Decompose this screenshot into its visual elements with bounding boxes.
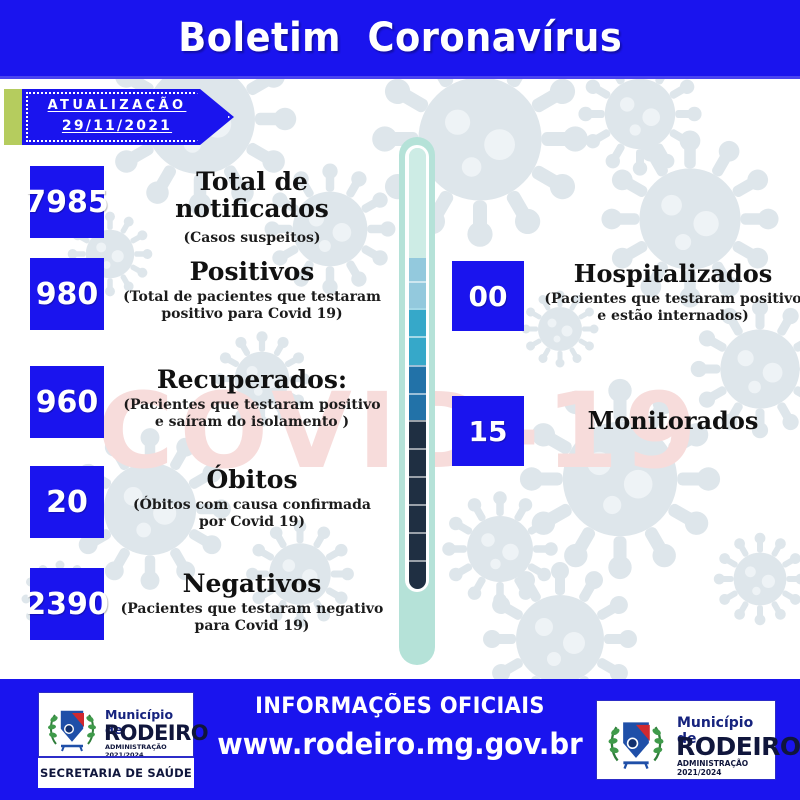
- stat-value-obitos: 20: [30, 466, 104, 538]
- stat-total-notificados: 7985 Total de notificados (Casos suspeit…: [30, 166, 386, 247]
- rodeiro-coat-of-arms-icon: [45, 699, 99, 755]
- stat-title-positivos: Positivos: [118, 258, 386, 285]
- accent-bar: [4, 89, 24, 145]
- stat-subtitle-hospitalizados: (Pacientes que testaram positivo e estão…: [538, 291, 800, 326]
- stat-subtitle-obitos: (Óbitos com causa confirmada por Covid 1…: [118, 497, 386, 532]
- stat-subtitle-total-notificados: (Casos suspeitos): [118, 230, 386, 247]
- logo-right-city-name: RODEIRO: [676, 732, 800, 761]
- stat-title-monitorados: Monitorados: [538, 408, 800, 434]
- thermometer-graphic: [399, 137, 435, 665]
- stat-title-negativos: Negativos: [118, 570, 386, 597]
- rodeiro-coat-of-arms-icon-right: [605, 708, 667, 774]
- stat-value-positivos: 980: [30, 258, 104, 330]
- stat-obitos: 20 Óbitos (Óbitos com causa confirmada p…: [30, 466, 386, 538]
- page-title: Boletim Coronavírus: [178, 15, 622, 61]
- stat-positivos: 980 Positivos (Total de pacientes que te…: [30, 258, 386, 330]
- stat-title-recuperados: Recuperados:: [118, 366, 386, 393]
- stat-value-negativos: 2390: [30, 568, 104, 640]
- secretaria-saude-label: SECRETARIA DE SAÚDE: [40, 766, 192, 780]
- stat-hospitalizados: 00 Hospitalizados (Pacientes que testara…: [452, 261, 800, 331]
- stat-value-total-notificados: 7985: [30, 166, 104, 238]
- update-banner: ATUALIZAÇÃO 29/11/2021: [22, 89, 234, 145]
- logo-right-admin-period: ADMINISTRAÇÃO 2021/2024: [677, 759, 775, 777]
- thermometer-fill: [409, 148, 426, 589]
- stat-recuperados: 960 Recuperados: (Pacientes que testaram…: [30, 366, 386, 438]
- stat-subtitle-recuperados: (Pacientes que testaram positivo e saíra…: [118, 397, 386, 432]
- logo-card-municipio-rodeiro: Município de RODEIRO ADMINISTRAÇÃO 2021/…: [596, 700, 776, 780]
- stat-subtitle-positivos: (Total de pacientes que testaram positiv…: [118, 289, 386, 324]
- stat-subtitle-negativos: (Pacientes que testaram negativo para Co…: [118, 601, 386, 636]
- thermometer-ticks: [409, 148, 426, 589]
- footer-info: INFORMAÇÕES OFICIAIS www.rodeiro.mg.gov.…: [200, 694, 600, 761]
- update-label: ATUALIZAÇÃO: [48, 96, 187, 116]
- logo-left-city-name: RODEIRO: [104, 721, 208, 745]
- header-divider: [0, 76, 800, 79]
- poster-header: Boletim Coronavírus: [0, 0, 800, 76]
- stat-title-total-notificados: Total de notificados: [118, 168, 386, 222]
- footer-official-info-label: INFORMAÇÕES OFICIAIS: [210, 694, 590, 719]
- footer-website-url[interactable]: www.rodeiro.mg.gov.br: [210, 727, 590, 761]
- stat-value-recuperados: 960: [30, 366, 104, 438]
- stat-value-hospitalizados: 00: [452, 261, 524, 331]
- stat-negativos: 2390 Negativos (Pacientes que testaram n…: [30, 568, 386, 640]
- stat-title-hospitalizados: Hospitalizados: [538, 261, 800, 287]
- stat-monitorados: 15 Monitorados: [452, 396, 800, 466]
- secretaria-saude-band: SECRETARIA DE SAÚDE: [38, 756, 194, 788]
- covid-bulletin-poster: COVID-19 Boletim Coronavírus ATUALIZAÇÃO…: [0, 0, 800, 800]
- stat-value-monitorados: 15: [452, 396, 524, 466]
- update-date: 29/11/2021: [62, 116, 172, 138]
- stat-title-obitos: Óbitos: [118, 466, 386, 493]
